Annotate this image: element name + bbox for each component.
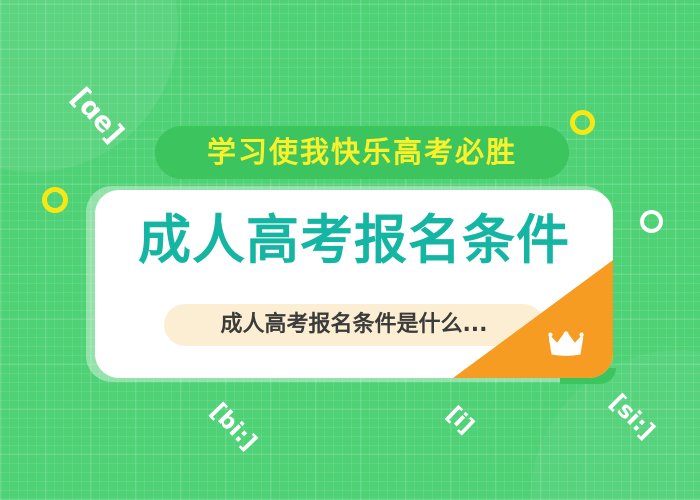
subtitle-pill: 成人高考报名条件是什么... <box>164 304 544 346</box>
ring-white-right-decoration <box>640 210 663 233</box>
phonetic-decoration-bottom-center: [i] <box>441 402 478 439</box>
main-card: 成人高考报名条件 成人高考报名条件是什么... <box>95 190 613 378</box>
tagline-banner-text: 学习使我快乐高考必胜 <box>207 138 517 167</box>
poster-canvas: [ɑe] [bi:] [i] [si:] 学习使我快乐高考必胜 成人高考报名条件… <box>0 0 700 500</box>
ring-yellow-left-decoration <box>42 187 68 213</box>
tagline-banner: 学习使我快乐高考必胜 <box>155 126 569 179</box>
crown-icon <box>545 328 587 360</box>
ring-yellow-top-decoration <box>570 110 595 135</box>
page-title: 成人高考报名条件 <box>95 214 613 267</box>
subtitle-text: 成人高考报名条件是什么... <box>220 314 487 336</box>
phonetic-decoration-bottom-left: [bi:] <box>205 398 262 455</box>
